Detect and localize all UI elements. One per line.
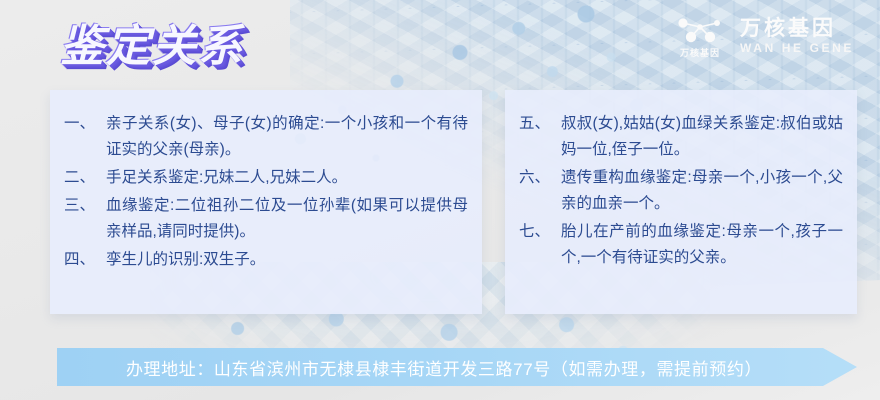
content-panels: 一、 亲子关系(女)、母子(女)的确定:一个小孩和一个有待证实的父亲(母亲)。 … [50, 90, 857, 314]
item-number: 三、 [64, 193, 106, 219]
brand-logo: 万核基因 万核基因 WAN HE GENE [674, 14, 854, 59]
right-info-panel: 五、 叔叔(女),姑姑(女)血绿关系鉴定:叔伯或姑妈一位,侄子一位。 六、 遗传… [505, 90, 857, 314]
poster-canvas: 鉴定关系 万核基因 万核基因 [0, 0, 880, 400]
list-item: 五、 叔叔(女),姑姑(女)血绿关系鉴定:叔伯或姑妈一位,侄子一位。 [519, 111, 843, 163]
item-text: 叔叔(女),姑姑(女)血绿关系鉴定:叔伯或姑妈一位,侄子一位。 [561, 111, 843, 163]
item-number: 五、 [519, 111, 561, 137]
address-ribbon-shape: 办理地址：山东省滨州市无棣县棣丰街道开发三路77号（如需办理，需提前预约） [57, 348, 857, 386]
address-ribbon: 办理地址：山东省滨州市无棣县棣丰街道开发三路77号（如需办理，需提前预约） [57, 348, 857, 386]
brand-name-cn: 万核基因 [740, 17, 854, 41]
item-number: 七、 [519, 219, 561, 245]
address-text: 办理地址：山东省滨州市无棣县棣丰街道开发三路77号（如需办理，需提前预约） [126, 355, 762, 380]
list-item: 四、 孪生儿的识别:双生子。 [64, 247, 468, 273]
item-number: 二、 [64, 165, 106, 191]
list-item: 三、 血缘鉴定:二位祖孙二位及一位孙辈(如果可以提供母亲样品,请同时提供)。 [64, 193, 468, 245]
list-item: 二、 手足关系鉴定:兄妹二人,兄妹二人。 [64, 165, 468, 191]
list-item: 六、 遗传重构血缘鉴定:母亲一个,小孩一个,父亲的血亲一个。 [519, 165, 843, 217]
item-text: 亲子关系(女)、母子(女)的确定:一个小孩和一个有待证实的父亲(母亲)。 [106, 111, 468, 163]
item-number: 一、 [64, 111, 106, 137]
item-text: 手足关系鉴定:兄妹二人,兄妹二人。 [106, 165, 468, 191]
brand-name-en: WAN HE GENE [740, 42, 854, 55]
page-title: 鉴定关系 [60, 10, 244, 74]
item-number: 六、 [519, 165, 561, 191]
brand-wordmark: 万核基因 WAN HE GENE [740, 17, 854, 55]
item-text: 血缘鉴定:二位祖孙二位及一位孙辈(如果可以提供母亲样品,请同时提供)。 [106, 193, 468, 245]
list-item: 七、 胎儿在产前的血缘鉴定:母亲一个,孩子一个,一个有待证实的父亲。 [519, 219, 843, 271]
item-text: 遗传重构血缘鉴定:母亲一个,小孩一个,父亲的血亲一个。 [561, 165, 843, 217]
item-text: 孪生儿的识别:双生子。 [106, 247, 468, 273]
item-number: 四、 [64, 247, 106, 273]
brand-mark-label: 万核基因 [680, 46, 720, 59]
item-text: 胎儿在产前的血缘鉴定:母亲一个,孩子一个,一个有待证实的父亲。 [561, 219, 843, 271]
molecule-icon: 万核基因 [674, 14, 726, 59]
list-item: 一、 亲子关系(女)、母子(女)的确定:一个小孩和一个有待证实的父亲(母亲)。 [64, 111, 468, 163]
left-info-panel: 一、 亲子关系(女)、母子(女)的确定:一个小孩和一个有待证实的父亲(母亲)。 … [50, 90, 482, 314]
